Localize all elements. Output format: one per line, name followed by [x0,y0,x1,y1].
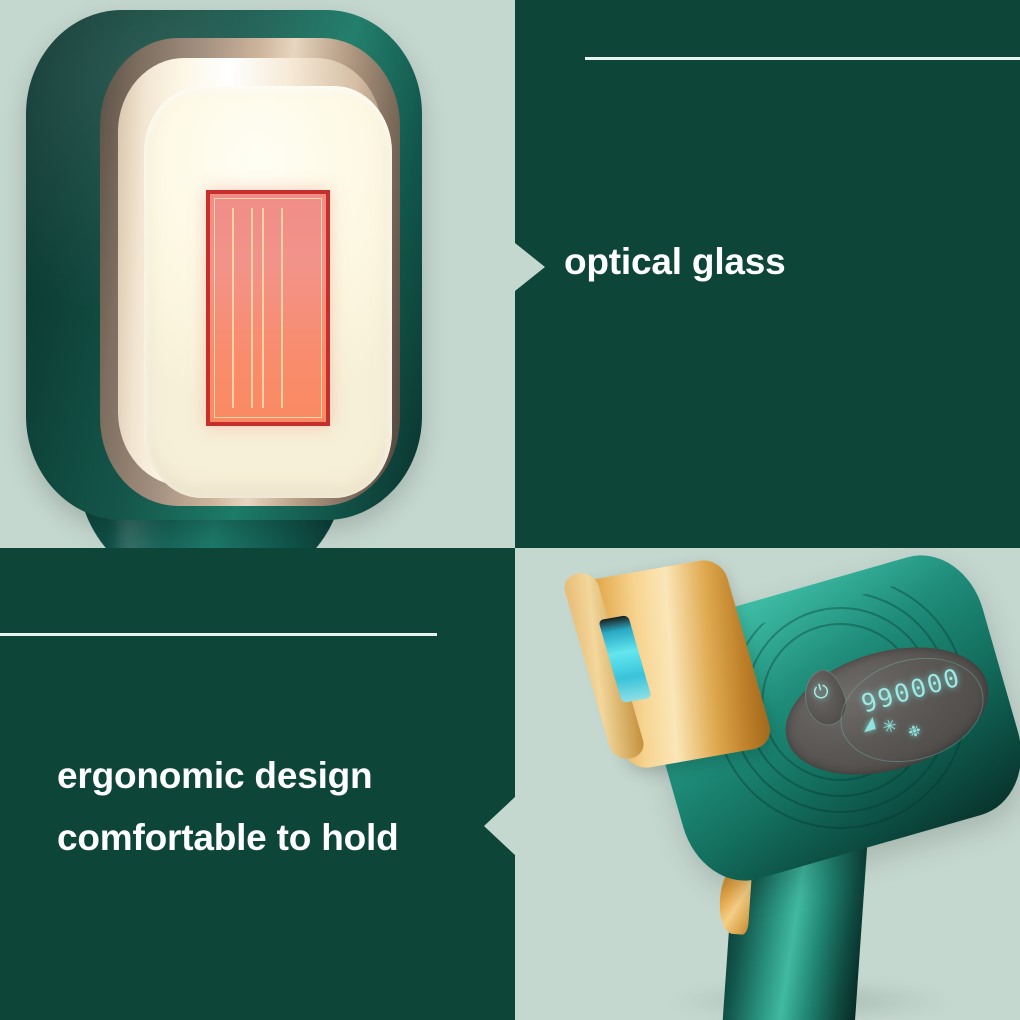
lamp-filament-line [251,208,253,408]
callout-rule-bottom [0,633,437,636]
caption-line-1: ergonomic design [57,745,399,807]
triangle-left-icon [484,796,516,856]
device-shell [26,10,422,520]
callout-rule-top [585,57,1020,60]
optical-glass-window [144,86,392,498]
product-infographic: optical glass ergonomic design comfortab… [0,0,1020,1020]
lamp-filament-line [281,208,283,408]
lamp-filament-line [262,208,264,408]
flash-lamp [206,190,330,426]
triangle-right-icon [515,243,545,291]
bronze-bezel [100,38,400,506]
full-device-image: ⏻ 990000 ◢✳❉ [515,548,1020,1020]
caption-ergonomic-design: ergonomic design comfortable to hold [57,745,399,869]
caption-line-2: comfortable to hold [57,807,399,869]
caption-optical-glass: optical glass [564,241,786,283]
flash-lamp-inner-border [214,198,322,418]
lamp-filament-line [232,208,234,408]
ipl-head-closeup-image [0,0,515,548]
bronze-bezel-inner [118,58,382,486]
